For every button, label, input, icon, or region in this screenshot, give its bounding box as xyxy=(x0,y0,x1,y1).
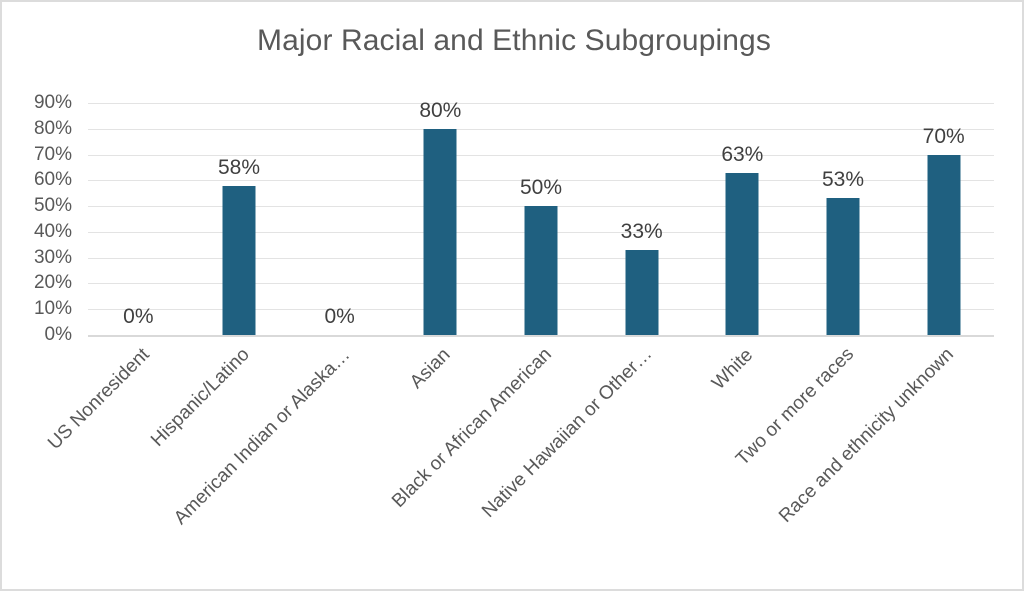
y-axis-tick-label: 20% xyxy=(34,272,72,294)
y-axis-tick-label: 80% xyxy=(34,118,72,140)
bar-value-label: 63% xyxy=(721,143,763,167)
plot-area: 0%58%0%80%50%33%63%53%70% xyxy=(88,103,994,335)
bar-slot: 0% xyxy=(289,103,390,335)
x-axis-tick-label: White xyxy=(708,344,758,394)
x-axis-label-slot: Native Hawaiian or Other… xyxy=(591,340,692,590)
bar-slot: 70% xyxy=(893,103,994,335)
y-axis-tick-label: 60% xyxy=(34,169,72,191)
bar-value-label: 58% xyxy=(218,156,260,180)
bar-slot: 53% xyxy=(793,103,894,335)
bar-value-label: 50% xyxy=(520,176,562,200)
x-axis: US NonresidentHispanic/LatinoAmerican In… xyxy=(88,340,994,590)
y-axis-tick-label: 30% xyxy=(34,247,72,269)
y-axis-tick-label: 0% xyxy=(45,324,72,346)
chart-title: Major Racial and Ethnic Subgroupings xyxy=(2,24,1024,58)
bar-slot: 80% xyxy=(390,103,491,335)
bar-slot: 58% xyxy=(189,103,290,335)
bar-value-label: 70% xyxy=(923,125,965,149)
y-axis-tick-label: 50% xyxy=(34,195,72,217)
bar[interactable] xyxy=(424,129,457,335)
x-axis-label-slot: Race and ethnicity unknown xyxy=(893,340,994,590)
bar[interactable] xyxy=(826,198,859,335)
bar-value-label: 80% xyxy=(419,99,461,123)
bar[interactable] xyxy=(625,250,658,335)
y-axis-tick-label: 10% xyxy=(34,298,72,320)
bar-slot: 33% xyxy=(591,103,692,335)
bar-value-label: 53% xyxy=(822,168,864,192)
bar-value-label: 0% xyxy=(324,305,354,329)
bar-value-label: 0% xyxy=(123,305,153,329)
bar-slot: 63% xyxy=(692,103,793,335)
bar-slot: 50% xyxy=(491,103,592,335)
x-axis-label-slot: US Nonresident xyxy=(88,340,189,590)
bar-value-label: 33% xyxy=(621,220,663,244)
bar-slot: 0% xyxy=(88,103,189,335)
bar[interactable] xyxy=(222,186,255,336)
y-axis-tick-label: 40% xyxy=(34,221,72,243)
bar[interactable] xyxy=(927,155,960,335)
bar[interactable] xyxy=(726,173,759,335)
chart-container: Major Racial and Ethnic Subgroupings 90%… xyxy=(0,0,1024,591)
bar[interactable] xyxy=(524,206,557,335)
y-axis-tick-label: 70% xyxy=(34,144,72,166)
x-axis-tick-label: Asian xyxy=(406,344,455,393)
y-axis: 90%80%70%60%50%40%30%20%10%0% xyxy=(2,103,80,335)
x-axis-tick-label: US Nonresident xyxy=(44,344,154,454)
x-axis-label-slot: American Indian or Alaska… xyxy=(289,340,390,590)
axis-baseline xyxy=(88,335,994,337)
y-axis-tick-label: 90% xyxy=(34,92,72,114)
